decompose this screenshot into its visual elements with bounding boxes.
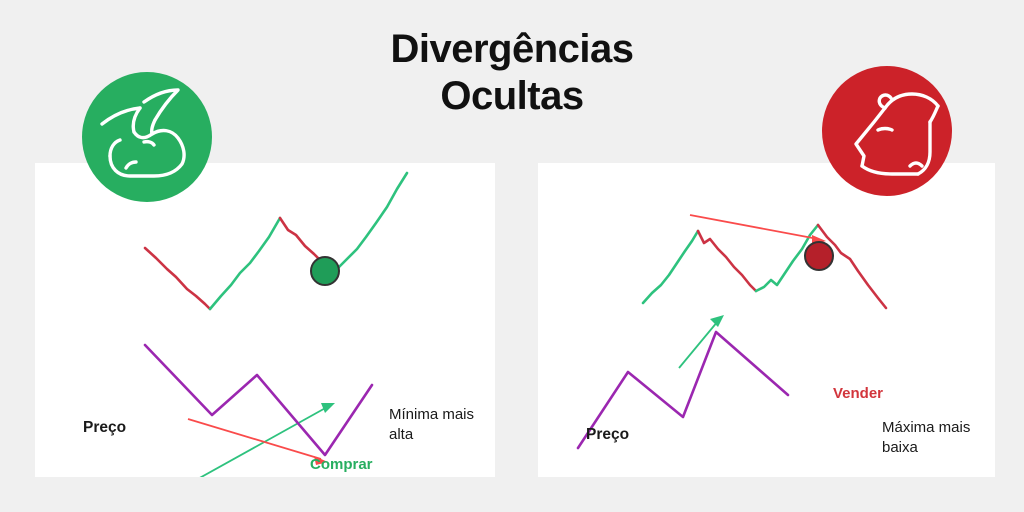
bear-head-icon [822,66,952,196]
bull-head-icon [82,72,212,202]
right-price-up-1 [643,231,698,303]
left-price-down-1 [145,248,210,309]
left-price-note: Mínima mais alta [389,405,474,446]
infographic-root: Divergências Ocultas [0,0,1024,512]
left-signal-label: Comprar [310,455,373,475]
left-price-up-1 [210,218,280,309]
right-signal-label: Vender [833,384,883,404]
right-sell-signal-dot[interactable] [805,242,833,270]
left-price-label: Preço [83,418,126,439]
bull-badge [82,72,212,202]
left-indicator-line [145,345,372,455]
right-price-label: Preço [586,425,629,446]
left-indicator-trendline-arrow [188,419,328,465]
bear-badge [822,66,952,196]
right-indicator-trendline-arrow [679,315,724,368]
right-chart-panel: Preço Indicador Vender Máxima mais baixa… [538,163,995,477]
left-buy-signal-dot[interactable] [311,257,339,285]
right-price-note: Máxima mais baixa [882,418,970,459]
left-chart-panel: Preço Indicador Mínima mais alta Comprar… [35,163,495,477]
left-price-up-2 [335,173,407,271]
right-price-down-1 [698,231,756,291]
